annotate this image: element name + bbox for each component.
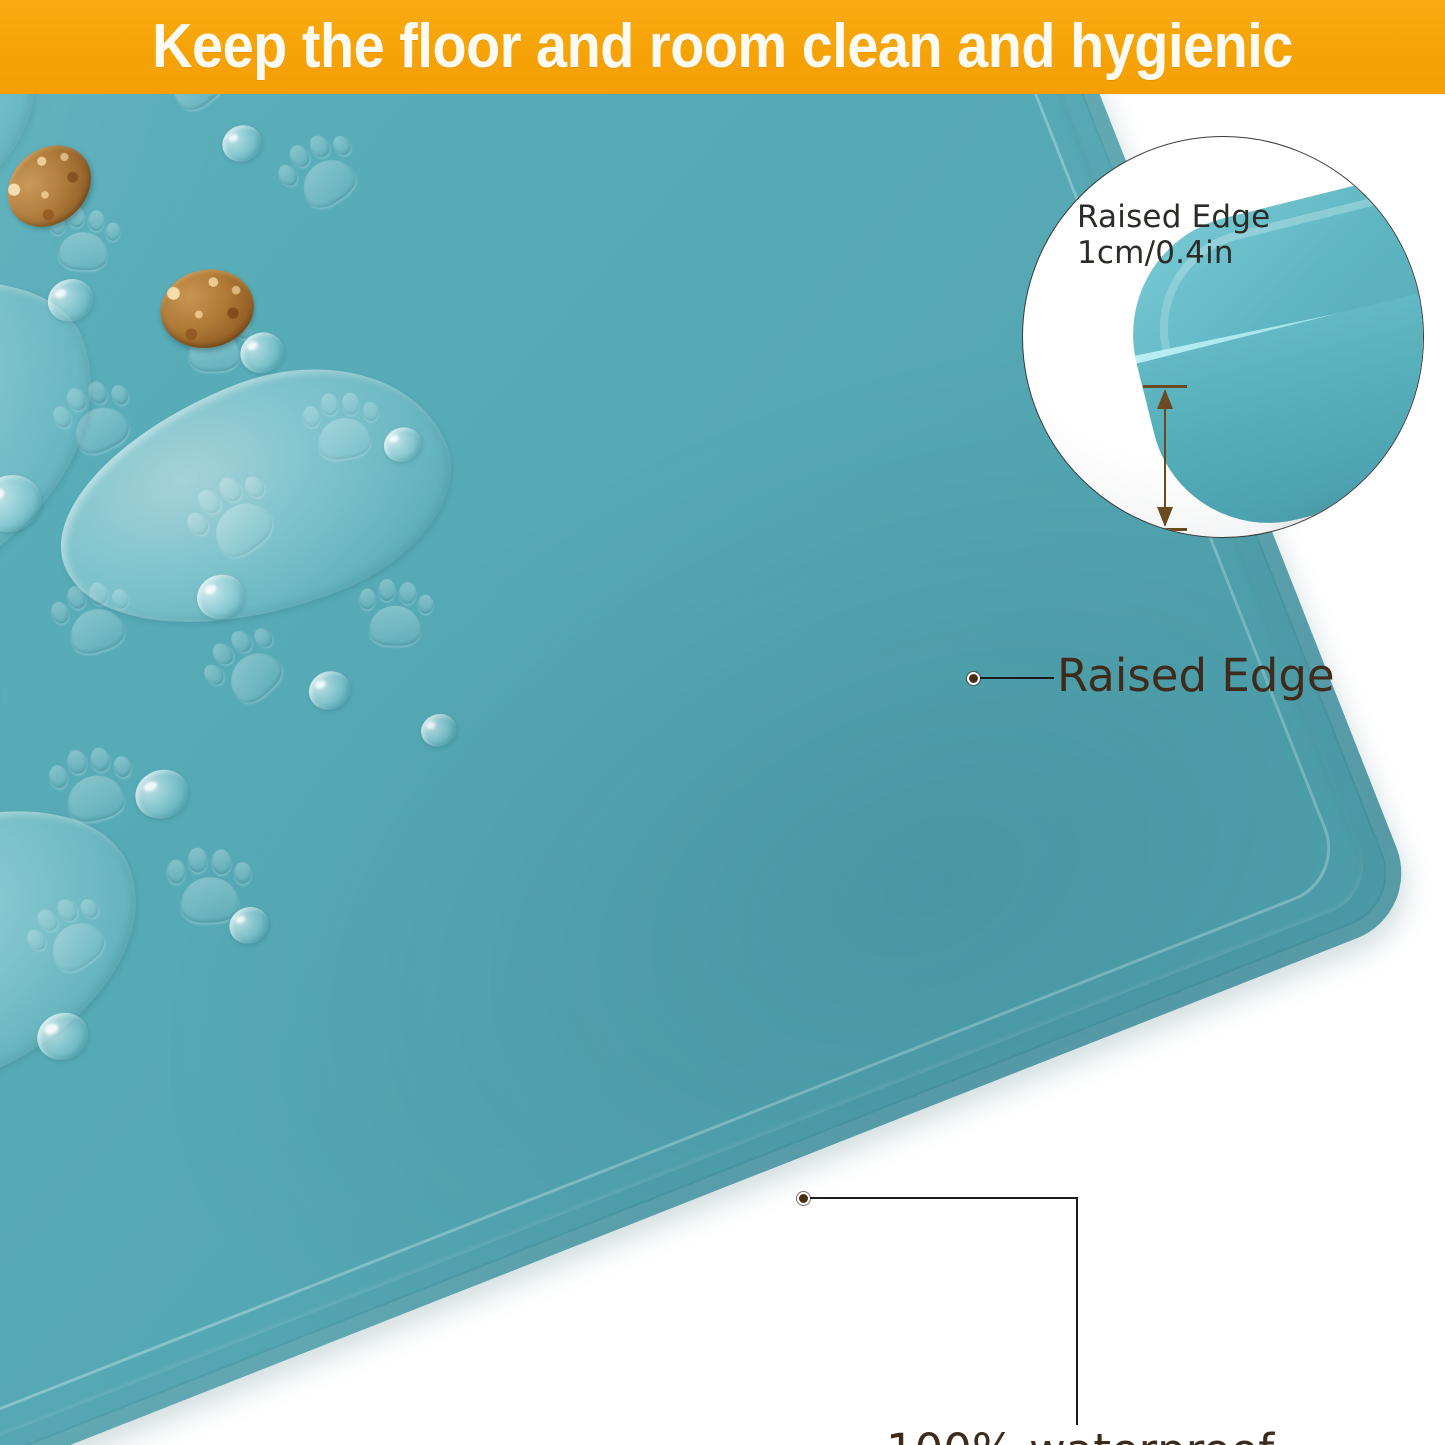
raised-edge-measure-label: Raised Edge 1cm/0.4in	[1077, 199, 1307, 271]
height-dimension-arrow-icon	[1143, 385, 1187, 531]
product-feature-image: Keep the floor and room clean and hygien…	[0, 0, 1445, 1445]
callout-dot-waterproof	[797, 1192, 810, 1205]
raised-edge-detail-circle: Raised Edge 1cm/0.4in	[1022, 136, 1424, 538]
headline-banner: Keep the floor and room clean and hygien…	[0, 0, 1445, 94]
callout-leader-raised-edge	[980, 677, 1054, 679]
callout-leader-waterproof-vertical	[1076, 1197, 1078, 1425]
callout-dot-raised-edge	[967, 672, 980, 685]
headline-text: Keep the floor and room clean and hygien…	[72, 0, 1373, 94]
callout-label-waterproof: 100% waterproof	[886, 1424, 1274, 1445]
callout-label-raised-edge: Raised Edge	[1057, 650, 1335, 702]
product-photo: Raised Edge 1cm/0.4in Raised Edge 100% w…	[0, 94, 1445, 1445]
callout-leader-waterproof-horizontal	[810, 1197, 1078, 1199]
